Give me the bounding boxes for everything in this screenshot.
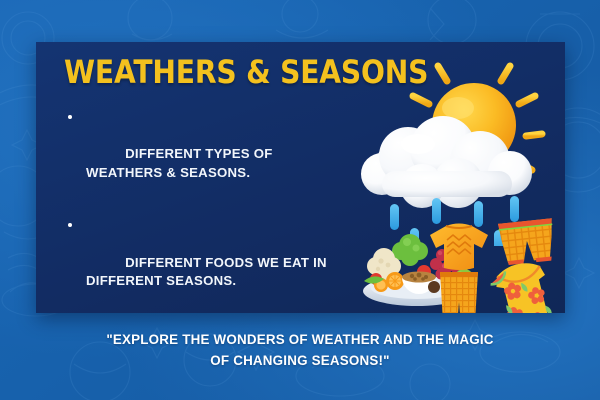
list-item-label: DIFFERENT TYPES OF WEATHERS & SEASONS. [86,146,273,180]
page-title: WEATHERS & SEASONS [64,56,328,90]
pants-illustration [432,270,486,313]
list-item-label: DIFFERENT FOODS WE EAT IN DIFFERENT SEAS… [86,255,327,289]
caption: "EXPLORE THE WONDERS OF WEATHER AND THE … [0,330,600,372]
bullet-dot-icon [68,223,72,227]
caption-line-1: "EXPLORE THE WONDERS OF WEATHER AND THE … [0,330,600,351]
sweater-illustration [426,220,492,272]
slide-canvas: WEATHERS & SEASONS DIFFERENT TYPES OF WE… [0,0,600,400]
floral-shirt-illustration [486,260,565,313]
bullet-dot-icon [68,115,72,119]
caption-line-2: OF CHANGING SEASONS!" [0,351,600,372]
content-card: WEATHERS & SEASONS DIFFERENT TYPES OF WE… [36,42,565,313]
illustration-group [316,42,565,313]
